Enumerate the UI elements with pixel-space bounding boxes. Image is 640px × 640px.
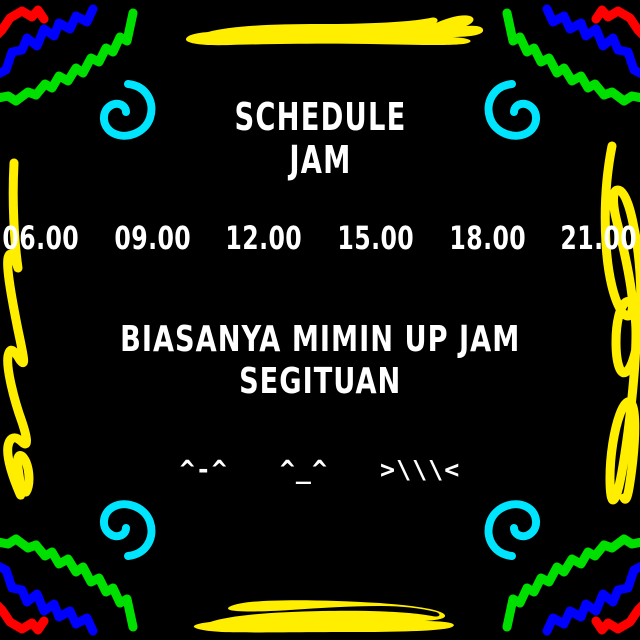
message-line-1: BIASANYA MIMIN UP JAM xyxy=(120,319,520,361)
emoticon-3: >\\\< xyxy=(380,455,460,484)
headline-line-jam: JAM xyxy=(234,139,406,182)
poster-canvas: SCHEDULE JAM 06.00 09.00 12.00 15.00 18.… xyxy=(0,0,640,640)
poster-content: SCHEDULE JAM 06.00 09.00 12.00 15.00 18.… xyxy=(0,0,640,640)
schedule-times-row: 06.00 09.00 12.00 15.00 18.00 21.00 xyxy=(0,219,640,257)
schedule-time-4: 15.00 xyxy=(337,219,414,257)
schedule-time-1: 06.00 xyxy=(3,219,80,257)
schedule-time-2: 09.00 xyxy=(114,219,191,257)
emoticon-row: ^-^ ^_^ >\\\< xyxy=(180,455,461,484)
schedule-time-6: 21.00 xyxy=(561,219,638,257)
emoticon-1: ^-^ xyxy=(180,455,228,484)
schedule-time-5: 18.00 xyxy=(449,219,526,257)
headline-line-schedule: SCHEDULE xyxy=(234,96,406,139)
schedule-time-3: 12.00 xyxy=(226,219,303,257)
headline-block: SCHEDULE JAM xyxy=(213,96,428,181)
emoticon-2: ^_^ xyxy=(280,455,328,484)
message-line-2: SEGITUAN xyxy=(120,361,520,403)
message-block: BIASANYA MIMIN UP JAM SEGITUAN xyxy=(82,319,558,403)
